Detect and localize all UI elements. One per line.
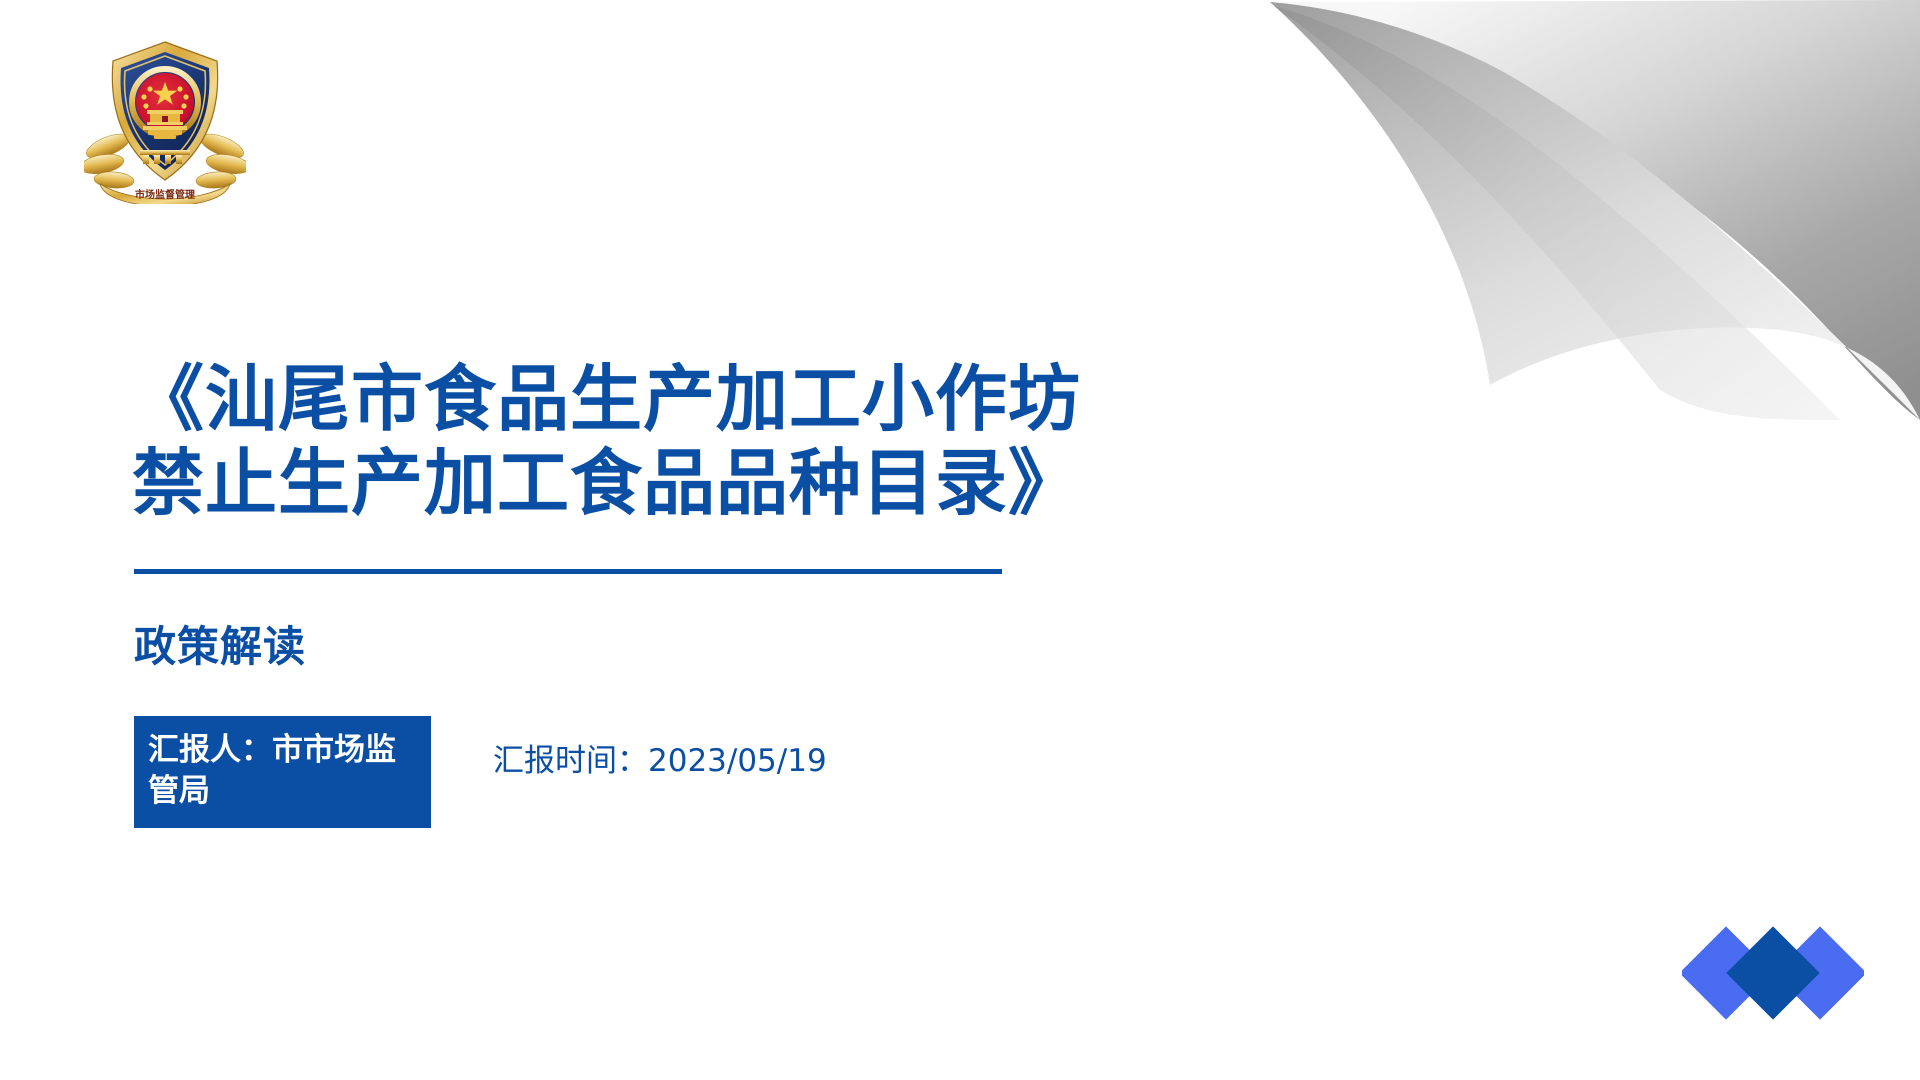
page-curl-decoration: [1240, 0, 1920, 420]
report-date: 汇报时间：2023/05/19: [493, 735, 827, 780]
title-divider: [134, 569, 1002, 574]
diamond-logo-mark: [1682, 918, 1864, 1034]
emblem-banner-text: 市场监督管理: [135, 188, 195, 201]
samr-emblem-icon: 市场监督管理: [84, 34, 246, 204]
presentation-meta: 汇报人：市市场监管局 汇报时间：2023/05/19: [134, 716, 827, 828]
title-slide: 市场监督管理 《汕尾市食品生产加工小作坊 禁止生产加工食品品种目录》 政策解读 …: [0, 0, 1920, 1080]
page-title: 《汕尾市食品生产加工小作坊 禁止生产加工食品品种目录》: [132, 358, 1232, 525]
title-line-1: 《汕尾市食品生产加工小作坊: [132, 358, 1232, 442]
presenter-badge: 汇报人：市市场监管局: [134, 716, 431, 828]
title-line-2: 禁止生产加工食品品种目录》: [132, 442, 1232, 526]
subtitle: 政策解读: [134, 613, 306, 674]
